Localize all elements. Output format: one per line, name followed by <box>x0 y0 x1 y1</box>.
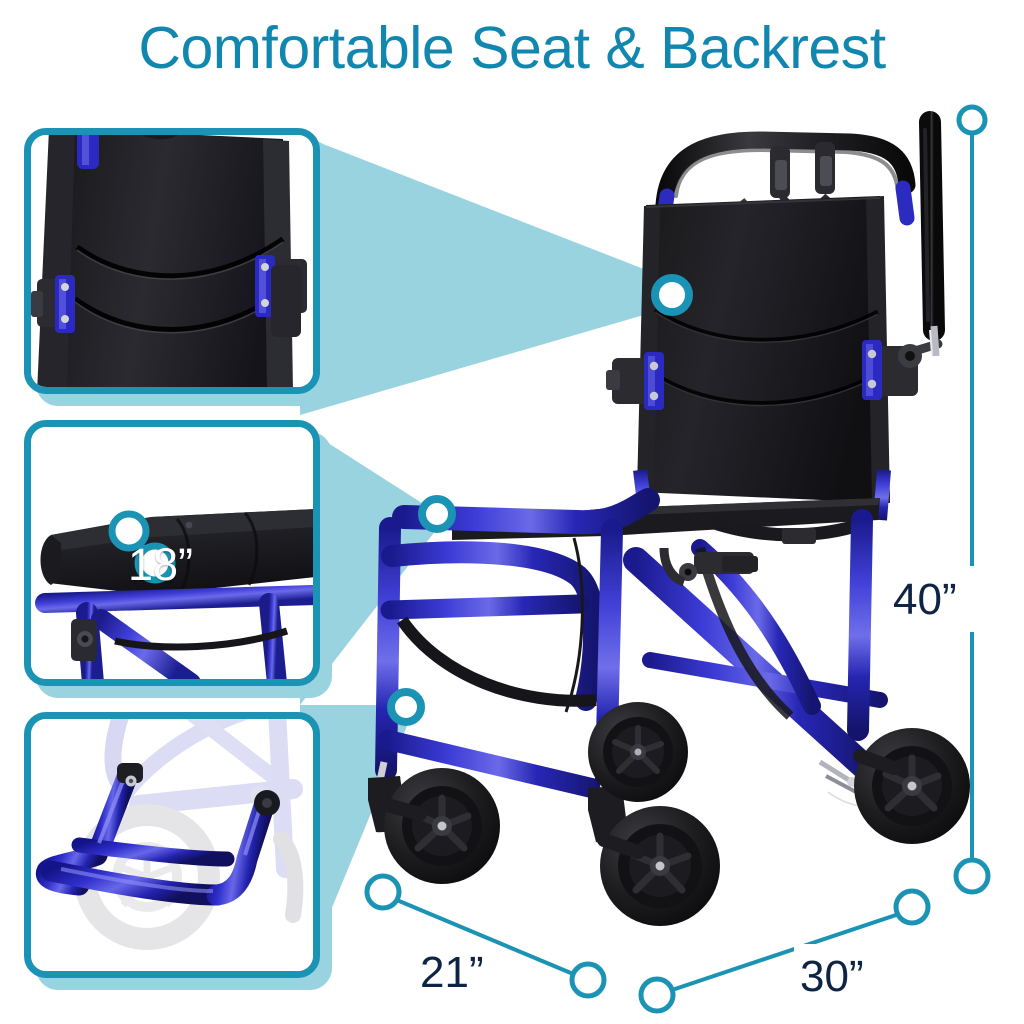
dim-endpoint-width-left <box>641 979 673 1011</box>
dim-endpoint-depth-left <box>367 876 399 908</box>
dimension-label-width: 30” <box>800 952 864 1002</box>
dimension-lines <box>0 0 1024 1024</box>
dim-endpoint-height-bottom <box>956 860 988 892</box>
dimension-label-depth: 21” <box>420 948 484 998</box>
dim-endpoint-width-right <box>896 891 928 923</box>
measure-label-18: 18” <box>128 539 193 591</box>
dim-endpoint-depth-right <box>572 964 604 996</box>
infographic-canvas: Comfortable Seat & Backrest <box>0 0 1024 1024</box>
dimension-label-height: 40” <box>893 575 957 625</box>
dim-endpoint-height-top <box>959 107 985 133</box>
